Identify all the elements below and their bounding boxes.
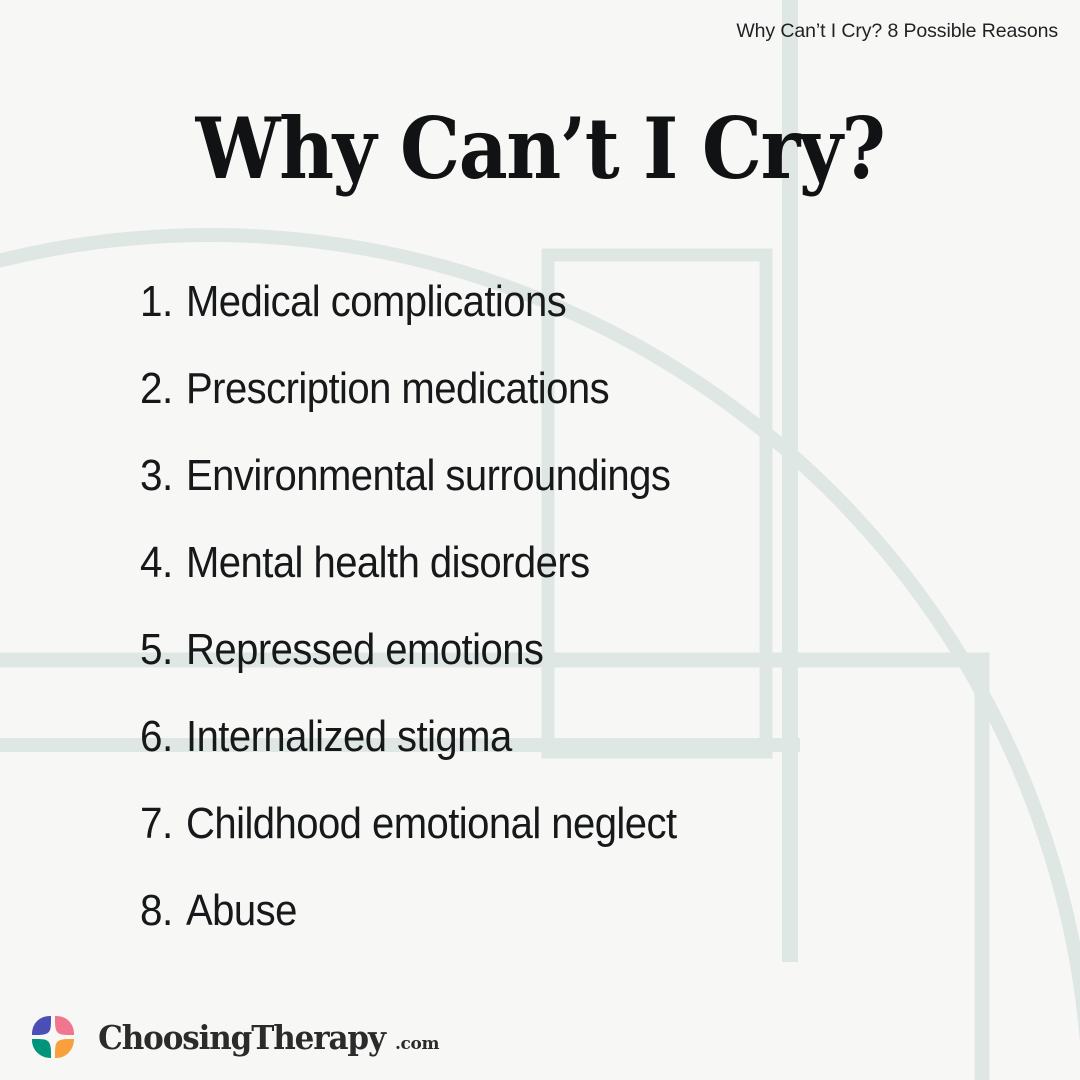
list-item-number: 5. bbox=[140, 625, 182, 675]
list-item-label: Medical complications bbox=[186, 277, 566, 327]
page-title-wrap: Why Can’t I Cry? bbox=[0, 104, 1080, 193]
list-item-label: Internalized stigma bbox=[186, 712, 512, 762]
choosingtherapy-pinwheel-icon bbox=[28, 1012, 78, 1062]
list-item-label: Prescription medications bbox=[186, 364, 609, 414]
list-item-number: 3. bbox=[140, 451, 182, 501]
header-title: Why Can’t I Cry? 8 Possible Reasons bbox=[736, 20, 1058, 43]
list-item: 7. Childhood emotional neglect bbox=[140, 799, 940, 886]
list-item: 5. Repressed emotions bbox=[140, 625, 940, 712]
list-item-number: 1. bbox=[140, 277, 182, 327]
list-item-number: 8. bbox=[140, 886, 182, 936]
list-item: 4. Mental health disorders bbox=[140, 538, 940, 625]
list-item: 6. Internalized stigma bbox=[140, 712, 940, 799]
petal-bottom-left-teal bbox=[32, 1039, 51, 1058]
petal-top-left-blue bbox=[32, 1016, 51, 1035]
brand-name: ChoosingTherapy bbox=[98, 1021, 385, 1054]
infographic-canvas: Why Can’t I Cry? 8 Possible Reasons Why … bbox=[0, 0, 1080, 1080]
petal-top-right-pink bbox=[55, 1016, 74, 1035]
brand-logo-lockup[interactable]: ChoosingTherapy .com bbox=[28, 1012, 439, 1062]
list-item-label: Repressed emotions bbox=[186, 625, 543, 675]
reasons-list: 1. Medical complications 2. Prescription… bbox=[140, 277, 940, 973]
list-item: 3. Environmental surroundings bbox=[140, 451, 940, 538]
list-item-number: 4. bbox=[140, 538, 182, 588]
page-title: Why Can’t I Cry? bbox=[54, 104, 1026, 193]
list-item-label: Mental health disorders bbox=[186, 538, 590, 588]
list-item-label: Childhood emotional neglect bbox=[186, 799, 677, 849]
list-item-label: Abuse bbox=[186, 886, 297, 936]
list-item: 8. Abuse bbox=[140, 886, 940, 973]
header-bar: Why Can’t I Cry? 8 Possible Reasons bbox=[0, 0, 1080, 62]
list-item-number: 7. bbox=[140, 799, 182, 849]
list-item-number: 2. bbox=[140, 364, 182, 414]
list-item: 1. Medical complications bbox=[140, 277, 940, 364]
brand-wordmark: ChoosingTherapy .com bbox=[89, 1021, 439, 1054]
petal-bottom-right-orange bbox=[55, 1039, 74, 1058]
brand-tld: .com bbox=[395, 1036, 439, 1053]
list-item: 2. Prescription medications bbox=[140, 364, 940, 451]
list-item-number: 6. bbox=[140, 712, 182, 762]
list-item-label: Environmental surroundings bbox=[186, 451, 670, 501]
